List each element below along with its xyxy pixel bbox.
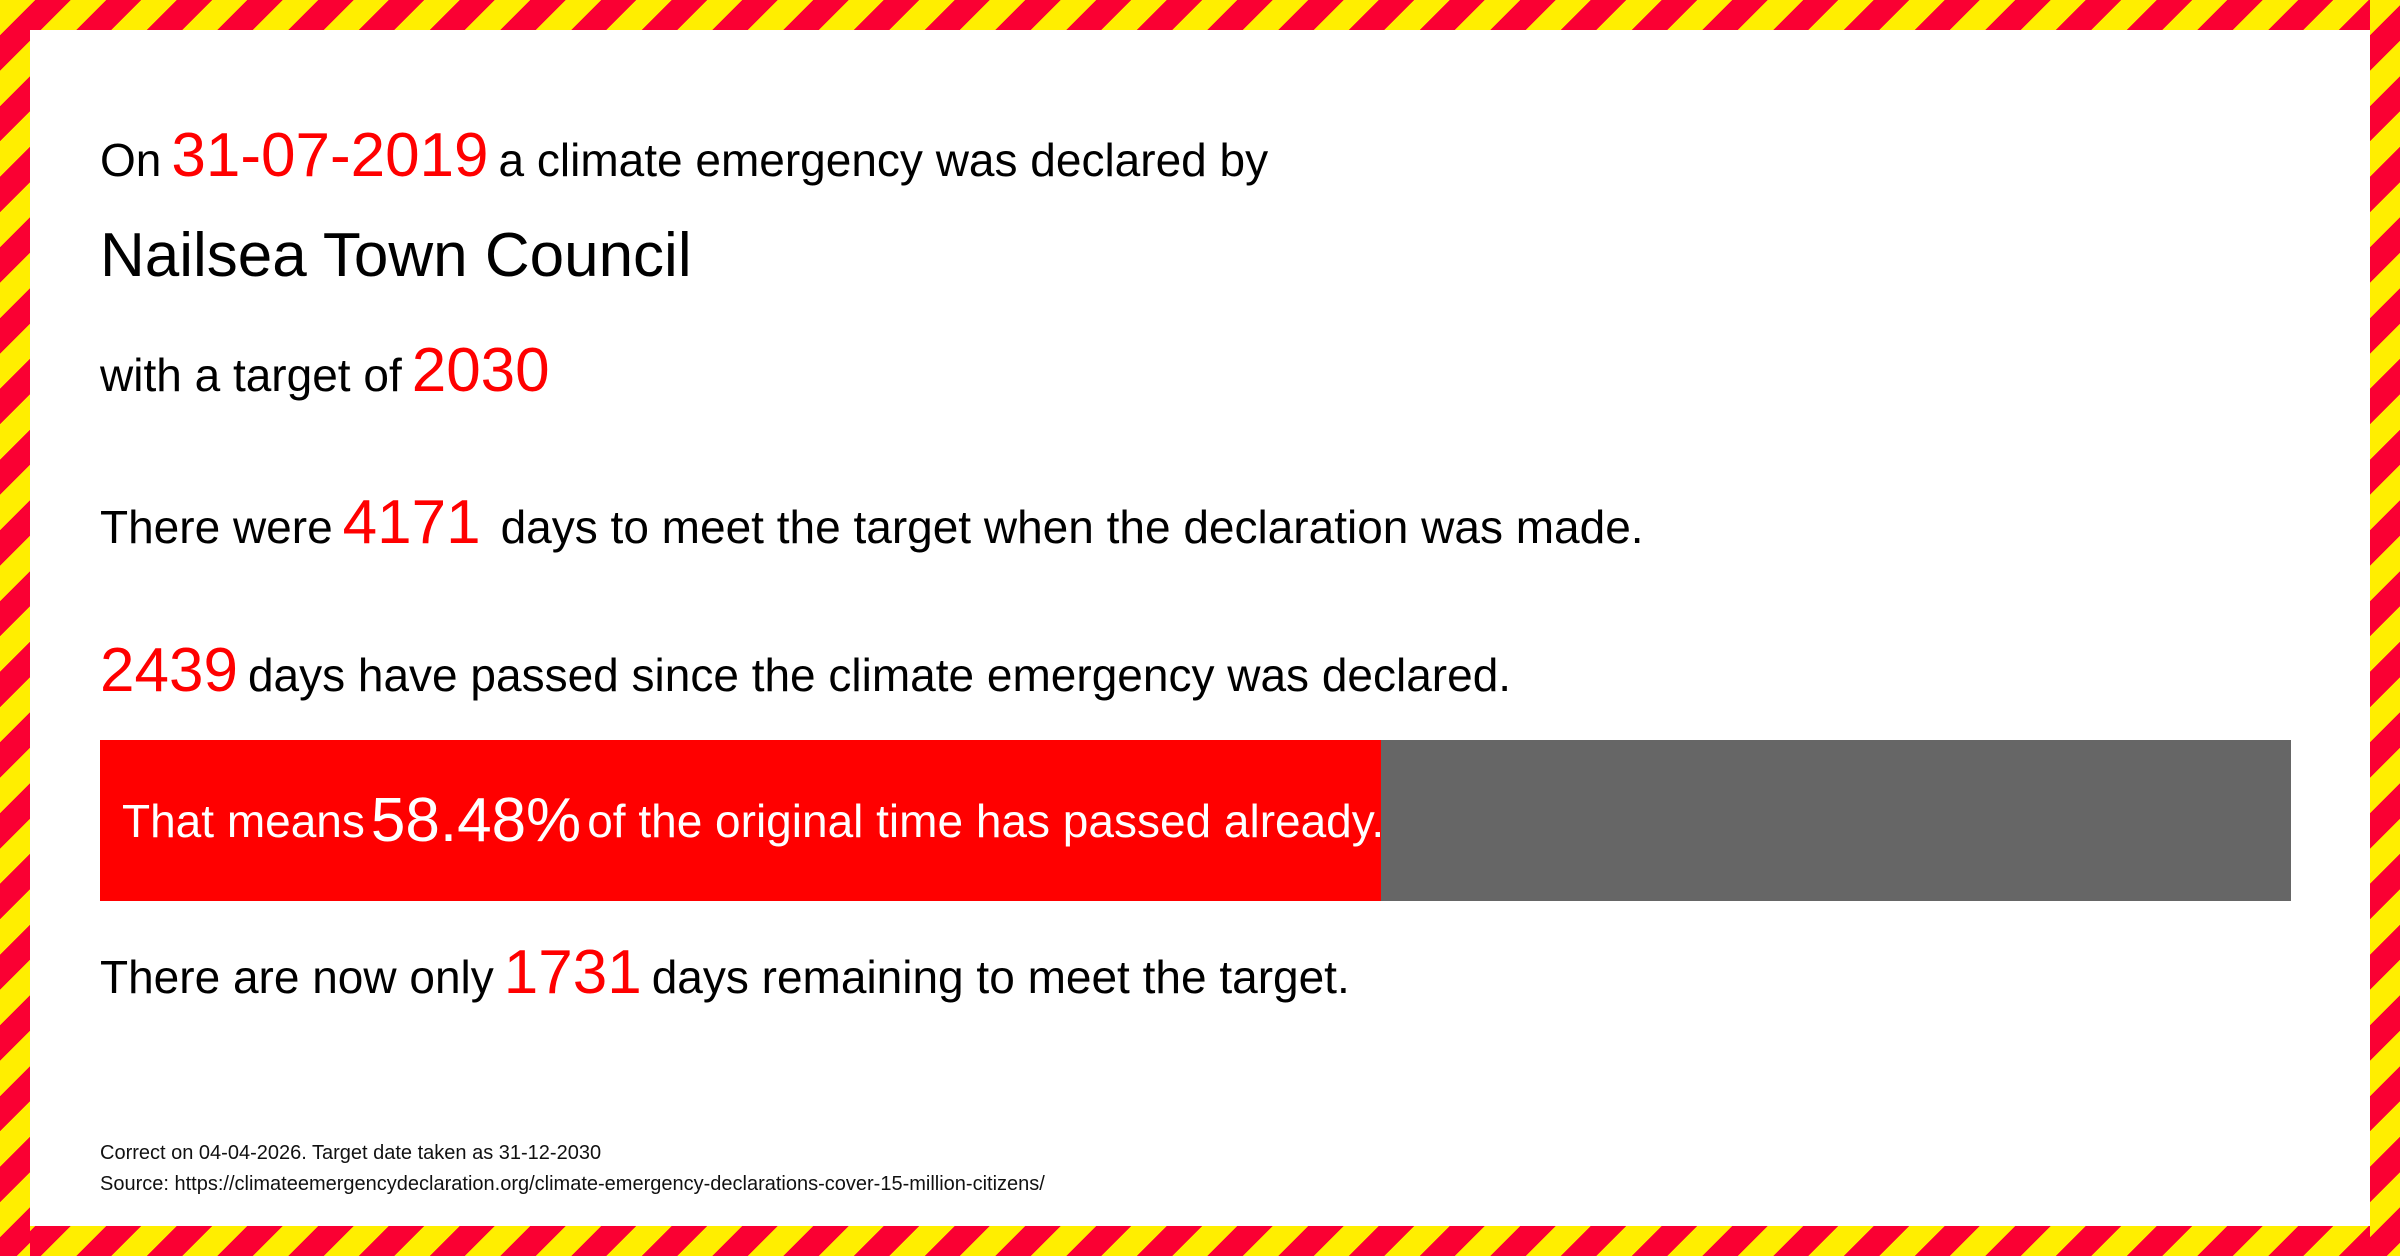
days-passed-value: 2439 [100,636,238,705]
days-to-target-value: 4171 [343,488,481,557]
progress-suffix: of the original time has passed already. [587,794,1384,848]
hazard-stripe-right-border [2370,0,2400,1256]
days-remaining-suffix: days remaining to meet the target. [652,951,1350,1003]
declaration-suffix: a climate emergency was declared by [499,134,1269,186]
footer-note: Correct on 04-04-2026. Target date taken… [100,1138,1045,1200]
time-elapsed-progress-bar: That means58.48%of the original time has… [100,740,2291,901]
progress-bar-label: That means58.48%of the original time has… [122,740,1384,901]
council-name: Nailsea Town Council [100,225,692,287]
days-passed-suffix: days have passed since the climate emerg… [248,649,1511,701]
hazard-stripe-top-border [0,0,2400,30]
footer-correct-on: Correct on 04-04-2026. Target date taken… [100,1138,1045,1169]
footer-source: Source: https://climateemergencydeclarat… [100,1169,1045,1200]
days-passed-line: 2439days have passed since the climate e… [100,640,1511,702]
progress-percent: 58.48% [365,785,587,856]
target-year: 2030 [412,336,550,405]
days-to-target-prefix: There were [100,501,333,553]
card-sheet: On31-07-2019a climate emergency was decl… [30,30,2370,1226]
target-year-line: with a target of2030 [100,340,550,402]
days-remaining-prefix: There are now only [100,951,494,1003]
hazard-stripe-bottom-border [0,1226,2400,1256]
declaration-prefix: On [100,134,161,186]
declaration-date: 31-07-2019 [171,121,488,190]
days-to-target-line: There were4171days to meet the target wh… [100,492,1644,554]
declaration-line: On31-07-2019a climate emergency was decl… [100,125,1268,187]
hazard-stripe-left-border [0,0,30,1256]
target-prefix: with a target of [100,349,402,401]
days-to-target-suffix: days to meet the target when the declara… [501,501,1644,553]
climate-emergency-card: On31-07-2019a climate emergency was decl… [0,0,2400,1256]
days-remaining-value: 1731 [504,938,642,1007]
progress-prefix: That means [122,794,365,848]
days-remaining-line: There are now only1731days remaining to … [100,942,1350,1004]
